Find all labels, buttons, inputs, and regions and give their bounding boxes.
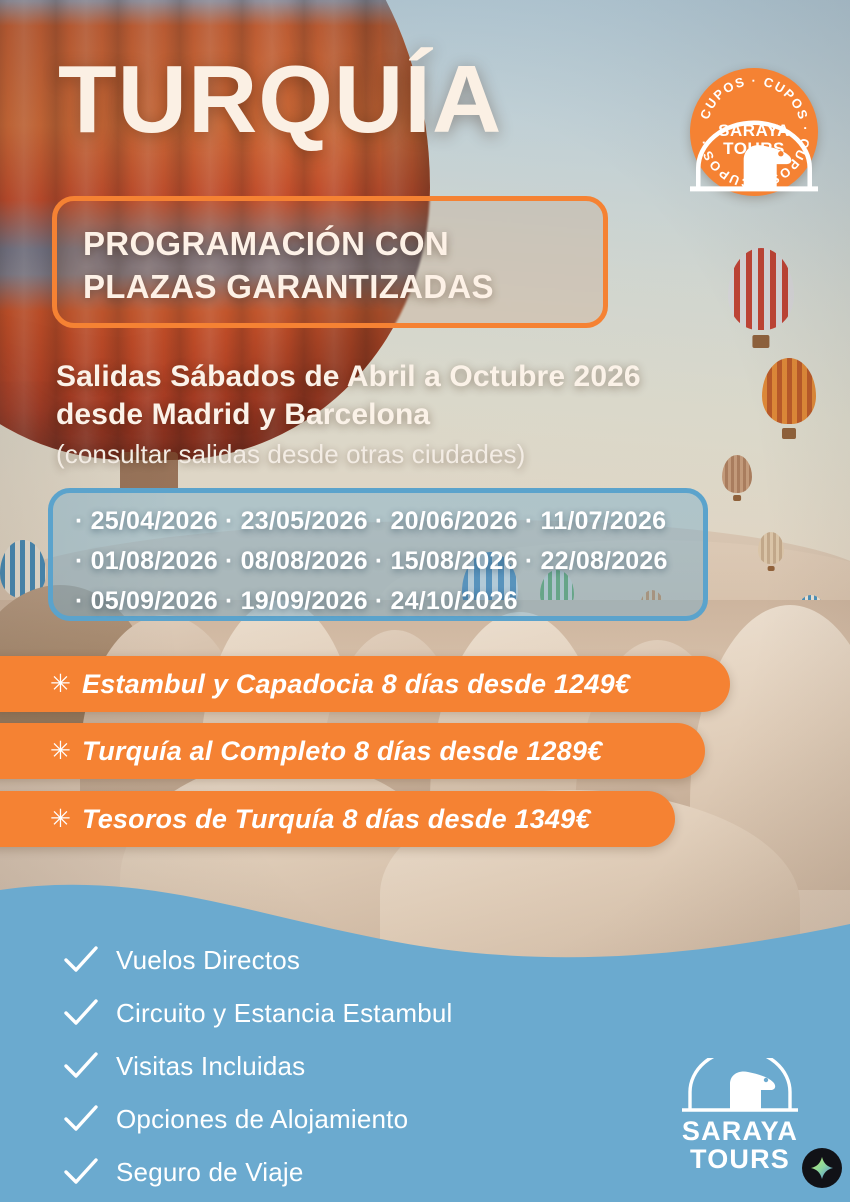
headline-line-1: PROGRAMACIÓN CON — [83, 225, 449, 262]
includes-list: Vuelos Directos Circuito y Estancia Esta… — [62, 938, 622, 1202]
offer-banner[interactable]: ✳ Estambul y Capadocia 8 días desde 1249… — [0, 656, 730, 712]
footer-brand: SARAYA TOURS — [660, 1117, 820, 1173]
subtitle-note: (consultar salidas desde otras ciudades) — [56, 438, 796, 471]
list-item: Opciones de Alojamiento — [62, 1097, 622, 1141]
offer-label: Tesoros de Turquía 8 días desde 1349€ — [82, 804, 591, 835]
subtitle-line-1: Salidas Sábados de Abril a Octubre 2026 — [56, 360, 641, 393]
headline-line-2: PLAZAS GARANTIZADAS — [83, 268, 494, 305]
offer-label: Estambul y Capadocia 8 días desde 1249€ — [82, 669, 630, 700]
ai-watermark-badge — [802, 1148, 842, 1188]
footer-logo: SARAYA TOURS — [660, 1058, 820, 1173]
list-item: Vuelos Directos — [62, 938, 622, 982]
headline-text: PROGRAMACIÓN CON PLAZAS GARANTIZADAS — [83, 223, 587, 309]
poster-canvas: TURQUÍA CUPOS · CUPOS · CUPOS · CUPOS · — [0, 0, 850, 1202]
departures-subtitle: Salidas Sábados de Abril a Octubre 2026 … — [56, 358, 796, 471]
saraya-camel-arch-icon — [690, 98, 818, 226]
cupos-badge: CUPOS · CUPOS · CUPOS · CUPOS · SARAYA T… — [690, 68, 818, 196]
footer-brand-line2: TOURS — [690, 1144, 790, 1174]
saraya-camel-arch-icon — [680, 1058, 800, 1114]
dates-row: · 01/08/2026 · 08/08/2026 · 15/08/2026 ·… — [75, 547, 689, 576]
list-item-label: Opciones de Alojamiento — [116, 1104, 408, 1135]
list-item-label: Visitas Incluidas — [116, 1051, 305, 1082]
check-icon — [62, 1051, 100, 1081]
dates-row: · 25/04/2026 · 23/05/2026 · 20/06/2026 ·… — [75, 507, 689, 536]
list-item: Circuito y Estancia Estambul — [62, 991, 622, 1035]
departure-dates-box: · 25/04/2026 · 23/05/2026 · 20/06/2026 ·… — [48, 488, 708, 621]
star-icon: ✳ — [50, 739, 71, 764]
list-item: Visitas Incluidas — [62, 1044, 622, 1088]
list-item: Seguro de Viaje — [62, 1150, 622, 1194]
list-item-label: Seguro de Viaje — [116, 1157, 304, 1188]
list-item-label: Vuelos Directos — [116, 945, 300, 976]
list-item-label: Circuito y Estancia Estambul — [116, 998, 453, 1029]
headline-box: PROGRAMACIÓN CON PLAZAS GARANTIZADAS — [52, 196, 608, 328]
check-icon — [62, 1157, 100, 1187]
star-icon: ✳ — [50, 807, 71, 832]
page-title: TURQUÍA — [58, 52, 502, 148]
footer-brand-line1: SARAYA — [682, 1116, 798, 1146]
dates-row: · 05/09/2026 · 19/09/2026 · 24/10/2026 — [75, 587, 689, 616]
check-icon — [62, 945, 100, 975]
offer-banner[interactable]: ✳ Turquía al Completo 8 días desde 1289€ — [0, 723, 705, 779]
offer-banner[interactable]: ✳ Tesoros de Turquía 8 días desde 1349€ — [0, 791, 675, 847]
check-icon — [62, 1104, 100, 1134]
star-icon: ✳ — [50, 672, 71, 697]
subtitle-line-2: desde Madrid y Barcelona — [56, 398, 430, 431]
offer-label: Turquía al Completo 8 días desde 1289€ — [82, 736, 602, 767]
four-point-star-icon — [810, 1156, 834, 1180]
check-icon — [62, 998, 100, 1028]
